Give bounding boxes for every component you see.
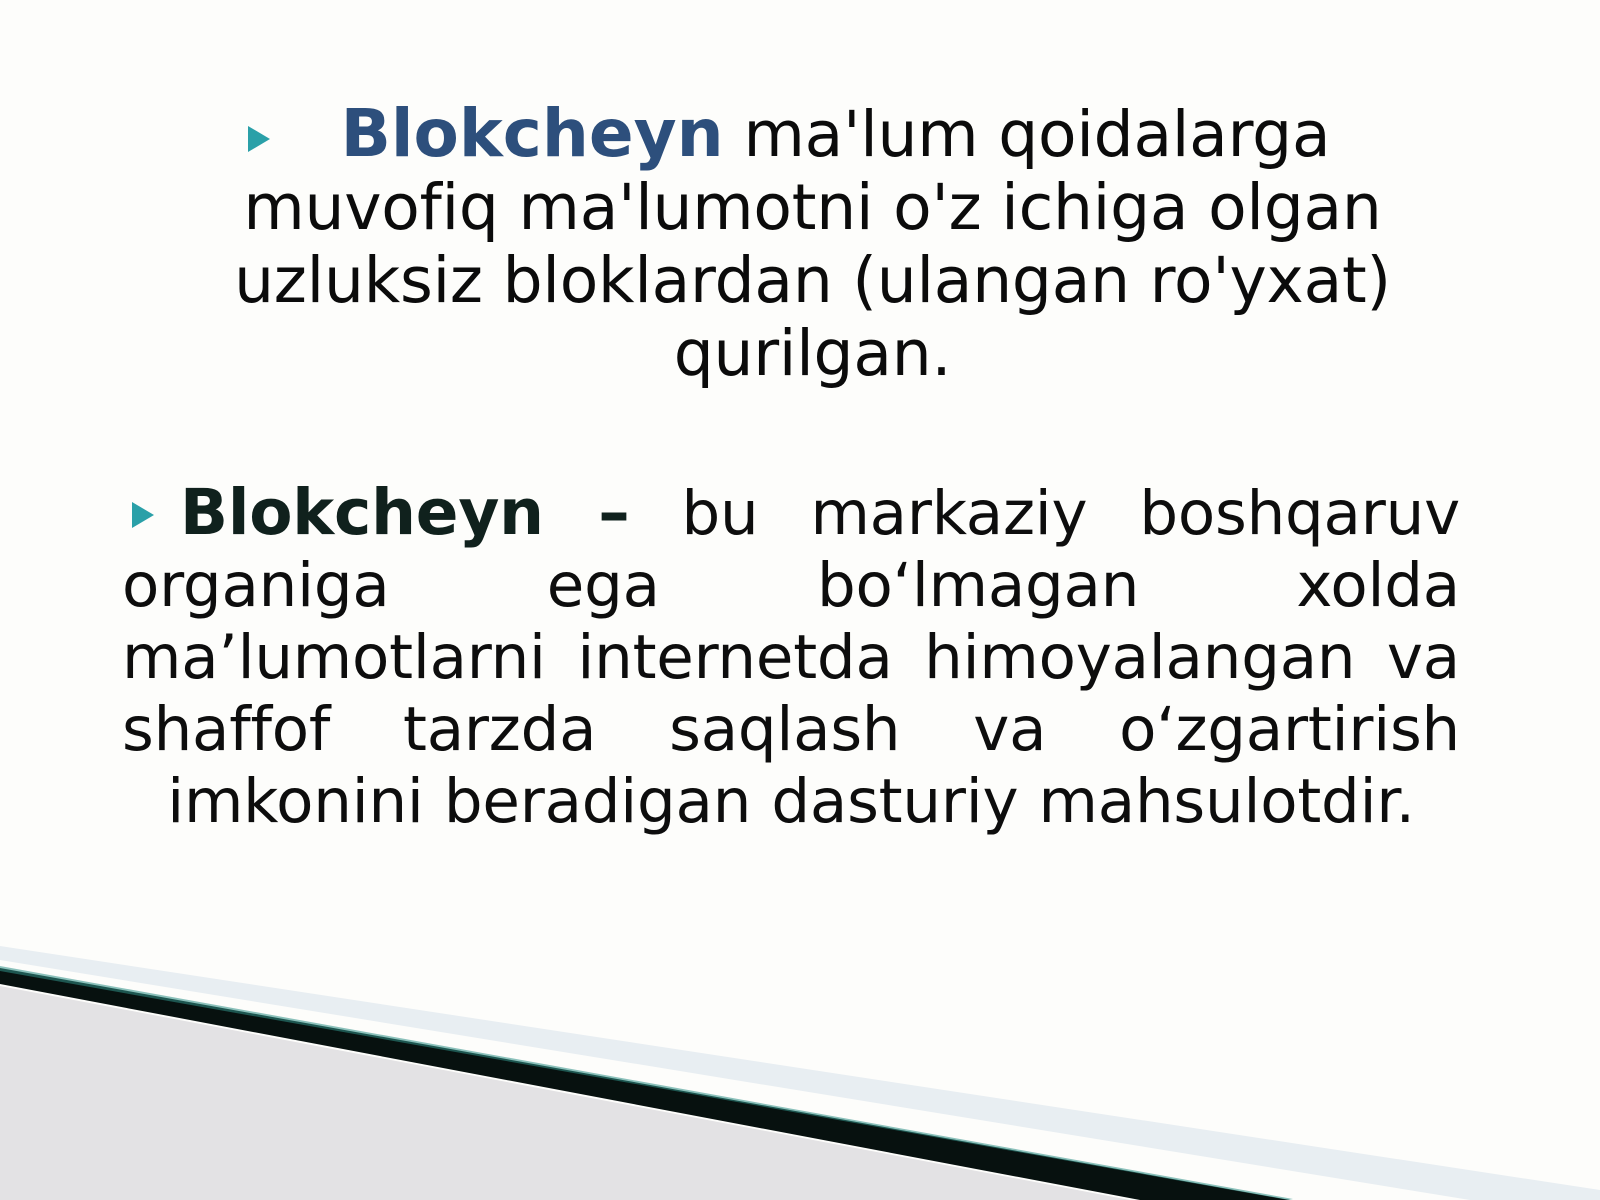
- bullet-paragraph-2: Blokcheyn – bu markaziy boshqaruv organi…: [0, 476, 1600, 837]
- slide-body: Blokcheyn ma'lum qoidalarga muvofiq ma'l…: [0, 0, 1600, 837]
- paragraph-1-text: Blokcheyn ma'lum qoidalarga muvofiq ma'l…: [210, 96, 1415, 390]
- bottom-left-corner-graphic: [0, 940, 1600, 1200]
- black-diagonal-stripe: [0, 968, 1290, 1200]
- paragraph-2-text: Blokcheyn – bu markaziy boshqaruv organi…: [122, 476, 1460, 837]
- teal-edge-highlight: [0, 966, 1293, 1200]
- presentation-slide: Blokcheyn ma'lum qoidalarga muvofiq ma'l…: [0, 0, 1600, 1200]
- triangle-right-icon: [132, 502, 154, 528]
- bullet-paragraph-1: Blokcheyn ma'lum qoidalarga muvofiq ma'l…: [0, 96, 1600, 390]
- triangle-right-icon: [248, 126, 270, 152]
- paragraph-2-keyword: Blokcheyn –: [180, 476, 630, 549]
- pale-band-shape: [0, 946, 1600, 1200]
- gray-wedge-shape: [0, 986, 1130, 1200]
- paragraph-1-keyword: Blokcheyn: [341, 95, 724, 172]
